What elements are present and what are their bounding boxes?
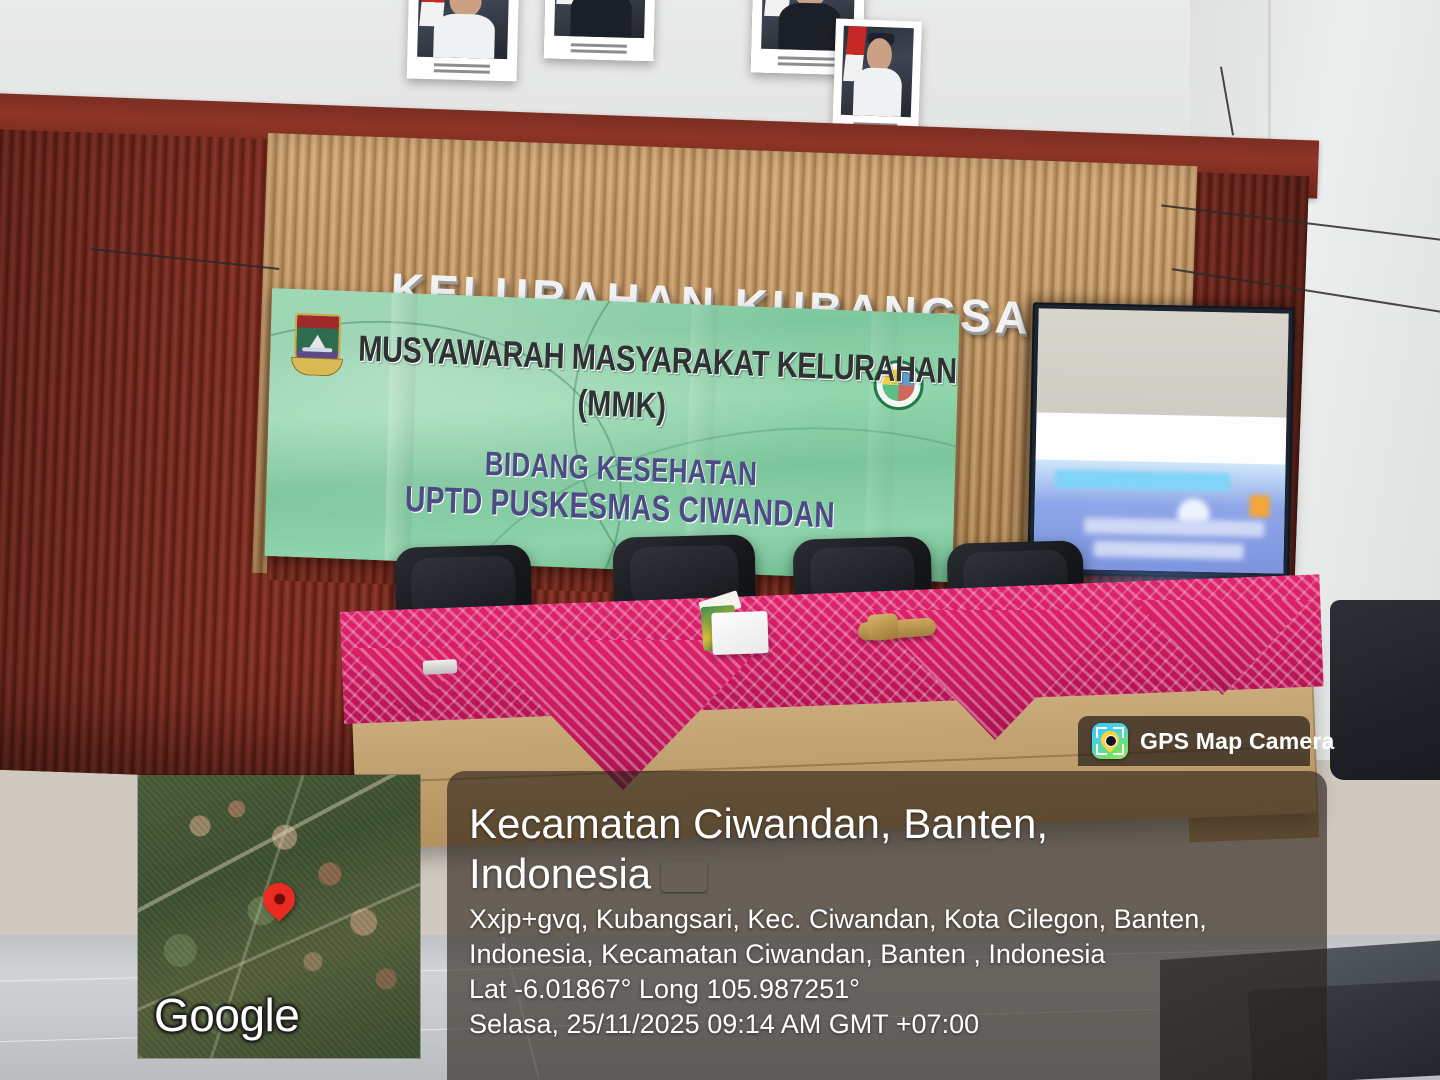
gps-heading-line-2-row: Indonesia bbox=[469, 849, 1307, 899]
gps-app-label: GPS Map Camera bbox=[1140, 728, 1335, 755]
indonesia-flag-icon bbox=[661, 861, 707, 892]
presentation-screen bbox=[1027, 302, 1295, 579]
gps-coordinates: Lat -6.01867° Long 105.987251° bbox=[469, 972, 1307, 1007]
tissue-box bbox=[711, 611, 768, 655]
gps-heading-line-2: Indonesia bbox=[469, 850, 651, 897]
right-dark-object bbox=[1330, 600, 1440, 780]
official-portrait-2 bbox=[544, 0, 657, 61]
gps-timestamp: Selasa, 25/11/2025 09:14 AM GMT +07:00 bbox=[469, 1007, 1307, 1042]
cilegon-city-emblem-icon bbox=[294, 313, 342, 375]
gavel-head bbox=[867, 613, 899, 641]
gps-map-camera-logo-icon bbox=[1092, 723, 1128, 759]
google-watermark: Google bbox=[154, 988, 299, 1042]
gps-map-camera-badge: GPS Map Camera bbox=[1078, 716, 1310, 766]
map-thumbnail[interactable]: Google bbox=[138, 775, 420, 1058]
remote-control bbox=[423, 659, 458, 675]
official-portrait-1 bbox=[407, 0, 520, 81]
gps-address-line-1: Xxjp+gvq, Kubangsari, Kec. Ciwandan, Kot… bbox=[469, 902, 1307, 937]
photo-canvas: KELURAHAN KUBANGSARI bbox=[0, 0, 1440, 1080]
gps-address-line-2: Indonesia, Kecamatan Ciwandan, Banten , … bbox=[469, 937, 1307, 972]
gps-info-panel: Kecamatan Ciwandan, Banten, Indonesia Xx… bbox=[447, 771, 1327, 1080]
gps-heading-line-1: Kecamatan Ciwandan, Banten, bbox=[469, 799, 1307, 849]
